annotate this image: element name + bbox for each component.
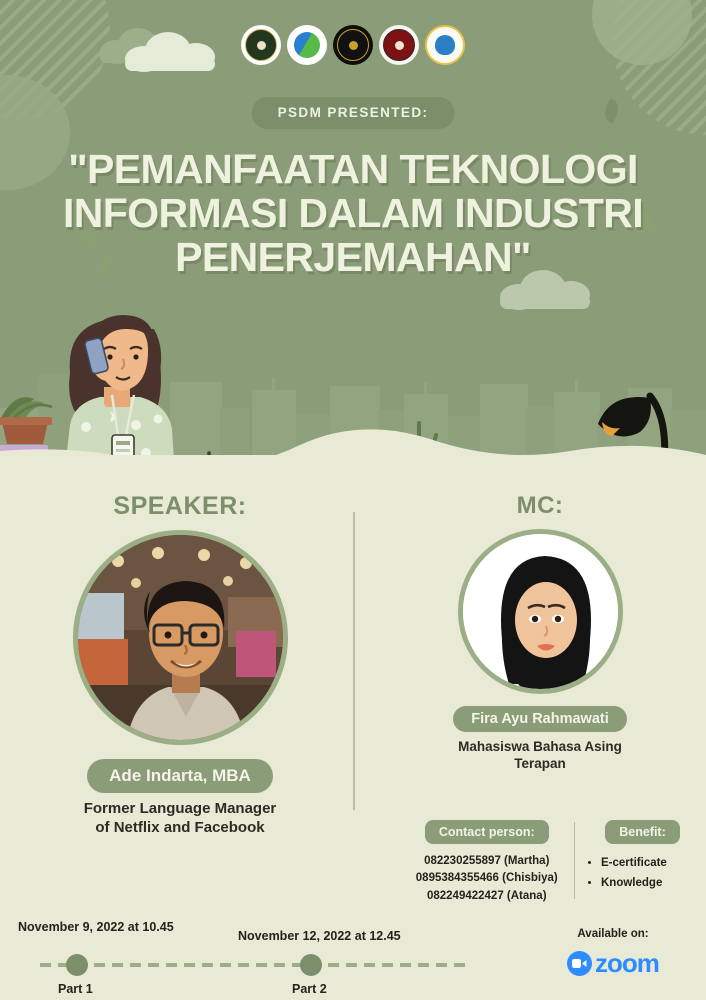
- timeline-date-1: November 9, 2022 at 10.45: [18, 920, 174, 934]
- mc-avatar: [458, 529, 623, 694]
- speaker-column: SPEAKER:: [20, 492, 340, 838]
- mc-name-badge: Fira Ayu Rahmawati: [453, 706, 627, 732]
- mc-column: MC:: [390, 492, 690, 773]
- mc-subtitle-line-1: Mahasiswa Bahasa Asing: [390, 739, 690, 756]
- psdm-presented-badge: PSDM PRESENTED:: [252, 97, 455, 129]
- speaker-subtitle-line-2: of Netflix and Facebook: [20, 819, 340, 838]
- partner-logos-row: [0, 25, 706, 65]
- benefit-item-1: E-certificate: [601, 854, 700, 874]
- zoom-wordmark: zoom: [595, 948, 659, 979]
- mc-subtitle: Mahasiswa Bahasa Asing Terapan: [390, 739, 690, 773]
- speaker-name-badge: Ade Indarta, MBA: [87, 759, 273, 793]
- blue-flame-logo: [425, 25, 465, 65]
- benefit-item-2: Knowledge: [601, 874, 700, 894]
- organization-colorful-logo: [287, 25, 327, 65]
- contact-number-1: 082230255897 (Martha): [410, 853, 564, 870]
- speaker-subtitle: Former Language Manager of Netflix and F…: [20, 800, 340, 838]
- benefit-column: Benefit: E-certificate Knowledge: [585, 820, 700, 905]
- contact-number-3: 082249422427 (Atana): [410, 888, 564, 905]
- timeline-dashed-line: [40, 963, 470, 967]
- zoom-logo: zoom: [520, 948, 706, 979]
- university-emblem-logo: [241, 25, 281, 65]
- speaker-role-label: SPEAKER:: [20, 492, 340, 521]
- timeline-dot-part-2: [300, 954, 322, 976]
- speaker-avatar: [73, 530, 288, 745]
- contact-column: Contact person: 082230255897 (Martha) 08…: [410, 820, 564, 905]
- title-line-2: INFORMASI DALAM INDUSTRI: [24, 192, 682, 236]
- contact-numbers-list: 082230255897 (Martha) 0895384355466 (Chi…: [410, 853, 564, 905]
- vertical-divider: [353, 512, 355, 810]
- speaker-subtitle-line-1: Former Language Manager: [20, 800, 340, 819]
- benefit-items-list: E-certificate Knowledge: [585, 854, 700, 893]
- contact-heading-badge: Contact person:: [425, 820, 549, 844]
- poster-root: PSDM PRESENTED: "PEMANFAATAN TEKNOLOGI I…: [0, 0, 706, 1000]
- timeline-date-2: November 12, 2022 at 12.45: [238, 929, 401, 943]
- contact-number-2: 0895384355466 (Chisbiya): [410, 870, 564, 887]
- timeline-dot-part-1: [66, 954, 88, 976]
- timeline-part-1-label: Part 1: [58, 982, 93, 996]
- page-title: "PEMANFAATAN TEKNOLOGI INFORMASI DALAM I…: [0, 148, 706, 280]
- title-line-3: PENERJEMAHAN": [24, 236, 682, 280]
- zoom-camera-icon: [567, 951, 592, 976]
- platform-section: Available on: zoom: [520, 928, 706, 979]
- red-crest-logo: [379, 25, 419, 65]
- mc-subtitle-line-2: Terapan: [390, 756, 690, 773]
- mc-role-label: MC:: [390, 492, 690, 520]
- info-section: Contact person: 082230255897 (Martha) 08…: [410, 820, 700, 905]
- schedule-timeline: November 9, 2022 at 10.45 November 12, 2…: [0, 920, 470, 1000]
- info-divider: [574, 822, 576, 899]
- title-line-1: "PEMANFAATAN TEKNOLOGI: [24, 148, 682, 192]
- available-on-label: Available on:: [520, 928, 706, 940]
- gold-crest-logo: [333, 25, 373, 65]
- benefit-heading-badge: Benefit:: [605, 820, 680, 844]
- leaf-icon-1: [601, 98, 622, 123]
- timeline-part-2-label: Part 2: [292, 982, 327, 996]
